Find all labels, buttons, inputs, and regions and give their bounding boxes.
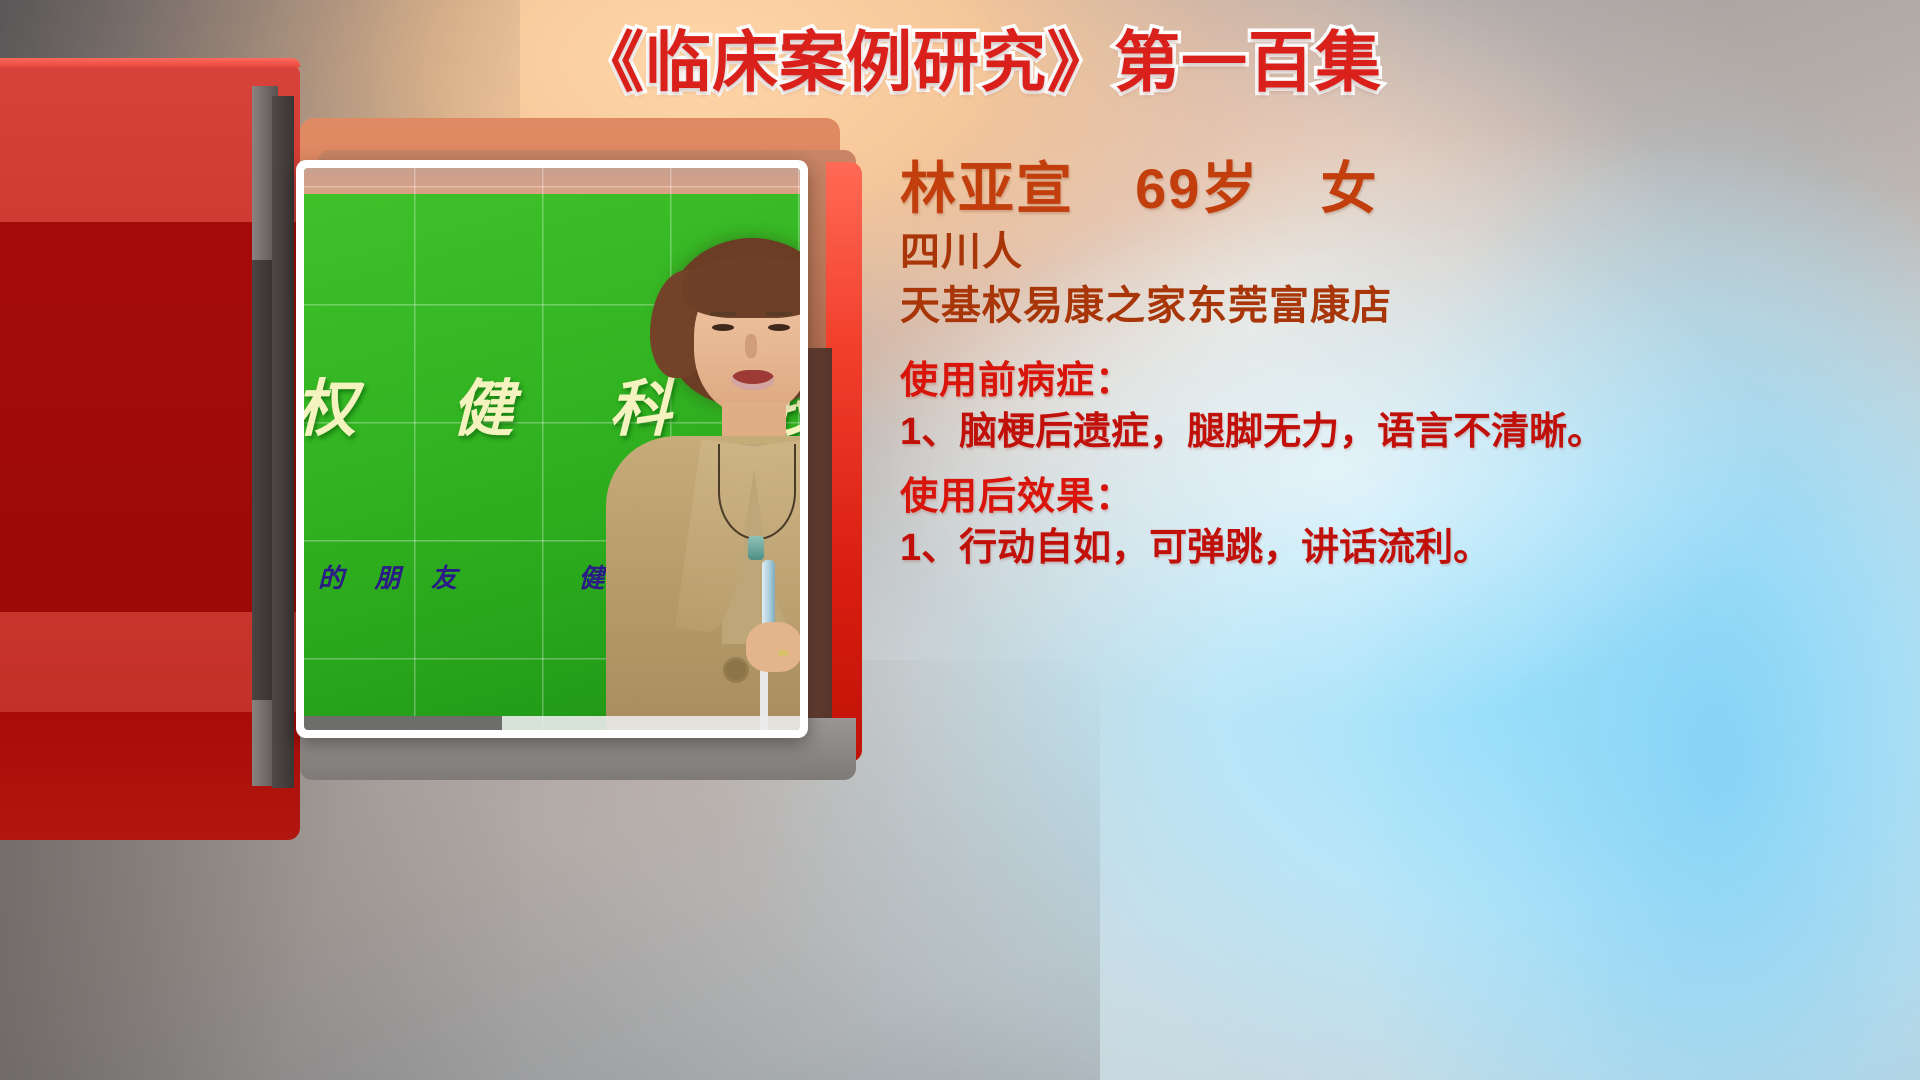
patient-identity-line: 林亚宣 69岁 女 (900, 158, 1900, 220)
section-after: 使用后效果： 1、行动自如，可弹跳，讲话流利。 (900, 472, 1900, 575)
figure-mouth (732, 370, 774, 390)
section-before-item-1: 1、脑梗后遗症，腿脚无力，语言不清晰。 (900, 407, 1900, 458)
figure-pendant (748, 536, 764, 560)
figure-ring (778, 650, 788, 656)
patient-info-panel: 林亚宣 69岁 女 四川人 天基权易康之家东莞富康店 使用前病症： 1、脑梗后遗… (900, 158, 1900, 575)
decor-grey-strip-inner (272, 96, 294, 788)
figure-eye-left (712, 324, 734, 331)
figure-nose (745, 334, 757, 358)
patient-gender: 女 (1321, 157, 1379, 220)
figure-jacket-button (726, 660, 746, 680)
figure-eyebrow-left (710, 312, 736, 316)
figure-hand (746, 622, 800, 672)
patient-age: 69岁 (1135, 157, 1259, 220)
speaker-figure (546, 230, 800, 730)
patient-photo-frame: 权 健 科 技 集 的 朋 友 健 康 的 道 (296, 160, 808, 738)
photo-backdrop-subtext-left: 的 朋 友 (318, 558, 469, 595)
figure-eyebrow-right (766, 312, 792, 316)
patient-store: 天基权易康之家东莞富康店 (900, 282, 1900, 330)
section-after-heading: 使用后效果： (900, 472, 1900, 523)
section-before: 使用前病症： 1、脑梗后遗症，腿脚无力，语言不清晰。 (900, 356, 1900, 459)
section-after-item-1: 1、行动自如，可弹跳，讲话流利。 (900, 523, 1900, 574)
patient-origin: 四川人 (900, 228, 1900, 276)
figure-fringe (682, 256, 800, 318)
slide-canvas: 《临床案例研究》第一百集 权 健 科 技 集 的 朋 友 健 康 的 道 (0, 0, 1920, 1080)
figure-eye-right (768, 324, 790, 331)
decor-red-top-highlight (0, 58, 300, 67)
patient-photo: 权 健 科 技 集 的 朋 友 健 康 的 道 (304, 168, 800, 730)
photo-bottom-bar-dark (304, 716, 502, 730)
figure-necklace (718, 444, 796, 540)
patient-name: 林亚宣 (900, 157, 1074, 220)
section-before-heading: 使用前病症： (900, 356, 1900, 407)
slide-title: 《临床案例研究》第一百集 (500, 28, 1460, 97)
